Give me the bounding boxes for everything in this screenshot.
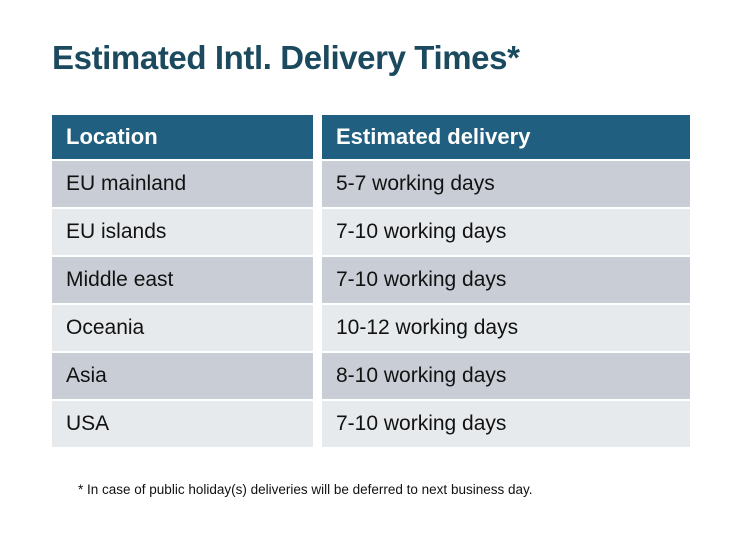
table-header-row: Location Estimated delivery [52,115,690,159]
cell-location: Middle east [52,257,313,303]
cell-location: Oceania [52,305,313,351]
table-row: USA 7-10 working days [52,401,690,447]
cell-estimated-delivery: 10-12 working days [322,305,690,351]
delivery-times-table: Location Estimated delivery EU mainland … [52,115,690,447]
column-header-location: Location [52,115,313,159]
delivery-times-page: Estimated Intl. Delivery Times* Location… [0,0,745,536]
cell-estimated-delivery: 7-10 working days [322,209,690,255]
table-row: Middle east 7-10 working days [52,257,690,303]
table-row: EU islands 7-10 working days [52,209,690,255]
cell-location: Asia [52,353,313,399]
table-row: Oceania 10-12 working days [52,305,690,351]
cell-estimated-delivery: 5-7 working days [322,161,690,207]
table-row: Asia 8-10 working days [52,353,690,399]
cell-location: EU mainland [52,161,313,207]
cell-location: USA [52,401,313,447]
table-row: EU mainland 5-7 working days [52,161,690,207]
cell-estimated-delivery: 7-10 working days [322,257,690,303]
page-title: Estimated Intl. Delivery Times* [52,38,520,78]
cell-estimated-delivery: 7-10 working days [322,401,690,447]
cell-location: EU islands [52,209,313,255]
cell-estimated-delivery: 8-10 working days [322,353,690,399]
column-header-estimated-delivery: Estimated delivery [322,115,690,159]
footnote: * In case of public holiday(s) deliverie… [78,481,533,499]
